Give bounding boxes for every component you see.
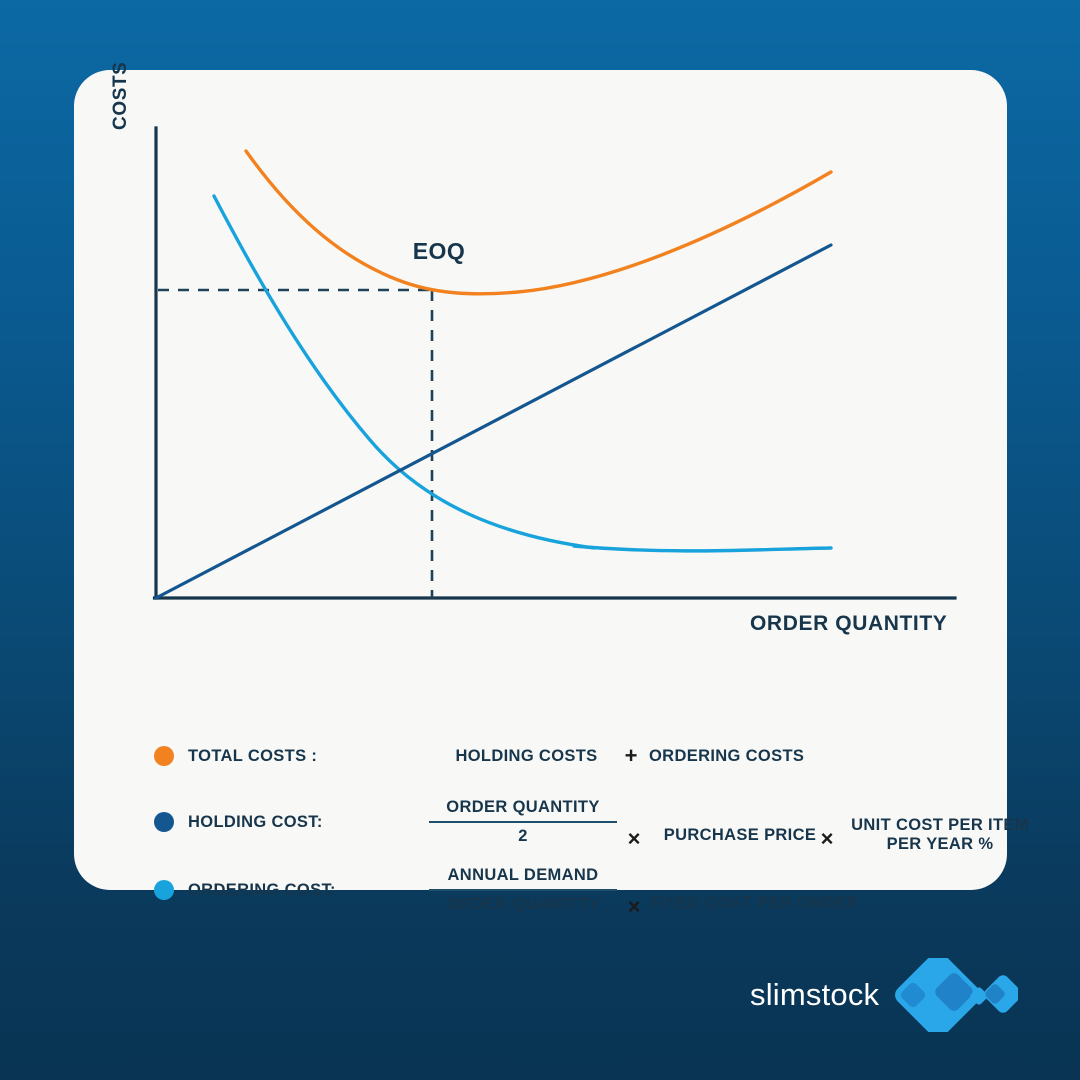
ordering-cost-curve-tail [574,546,831,551]
ordering-cost-fraction-numerator: ANNUAL DEMAND [444,865,603,886]
brand-logo: slimstock [750,955,1030,1035]
multiply-operator-icon-1: × [619,826,649,852]
holding-cost-fraction: ORDER QUANTITY 2 [429,797,617,847]
fraction-bar [429,821,617,823]
y-axis-label: COSTS [110,62,132,130]
chart-svg [74,70,1007,670]
legend-row-holding-cost: HOLDING COST: ORDER QUANTITY 2 × PURCHAS… [154,812,363,832]
ordering-cost-term-fixed-cost: FIXED COST PER ORDER [650,894,880,913]
legend-row-ordering-cost: ORDERING COST: ANNUAL DEMAND ORDER QUANT… [154,880,363,900]
total-costs-term-ordering: ORDERING COSTS [649,747,859,766]
total-costs-bullet-icon [154,746,174,766]
holding-cost-term-purchase-price: PURCHASE PRICE [650,826,830,845]
ordering-cost-fraction-denominator: ORDER QUANTITY [442,894,603,915]
ordering-cost-label: ORDERING COST: [188,881,363,900]
infographic-card: COSTS EOQ ORDER QUANTITY TOTAL COSTS : H… [74,70,1007,890]
fraction-bar [429,889,617,891]
holding-cost-bullet-icon [154,812,174,832]
holding-cost-line [156,245,831,598]
legend-row-total-costs: TOTAL COSTS : HOLDING COSTS + ORDERING C… [154,746,348,766]
holding-cost-term-unit-cost: UNIT COST PER ITEM PER YEAR % [840,816,1040,854]
holding-cost-fraction-denominator: 2 [514,826,532,847]
holding-cost-label: HOLDING COST: [188,813,363,832]
slimstock-diamonds-logo-icon [893,958,1018,1032]
brand-wordmark: slimstock [750,977,879,1013]
ordering-cost-bullet-icon [154,880,174,900]
holding-cost-fraction-numerator: ORDER QUANTITY [442,797,603,818]
multiply-operator-icon-2: × [812,826,842,852]
x-axis-label: ORDER QUANTITY [750,612,947,636]
eoq-chart: COSTS EOQ ORDER QUANTITY [74,70,1007,670]
eoq-annotation-label: EOQ [384,238,494,265]
multiply-operator-icon: × [619,894,649,920]
plus-operator-icon: + [616,743,646,769]
total-costs-term-holding: HOLDING COSTS [439,747,614,766]
ordering-cost-fraction: ANNUAL DEMAND ORDER QUANTITY [429,865,617,915]
total-costs-label: TOTAL COSTS : [188,747,348,766]
total-cost-curve [246,151,831,294]
